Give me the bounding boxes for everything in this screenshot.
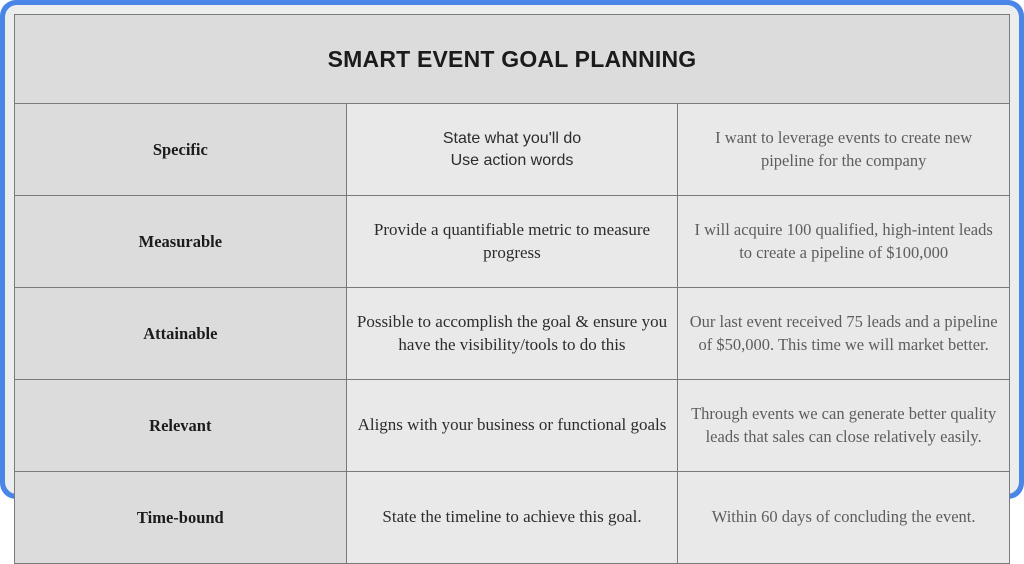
- row-description-relevant: Aligns with your business or functional …: [346, 380, 678, 472]
- card-inner-surface: SMART EVENT GOAL PLANNING Specific State…: [5, 5, 1019, 494]
- table-row: Attainable Possible to accomplish the go…: [15, 288, 1010, 380]
- row-description-attainable: Possible to accomplish the goal & ensure…: [346, 288, 678, 380]
- row-example-attainable: Our last event received 75 leads and a p…: [678, 288, 1010, 380]
- table-header-row: SMART EVENT GOAL PLANNING: [15, 15, 1010, 104]
- row-label-attainable: Attainable: [15, 288, 347, 380]
- row-example-measurable: I will acquire 100 qualified, high-inten…: [678, 196, 1010, 288]
- row-label-specific: Specific: [15, 104, 347, 196]
- blue-card-frame: SMART EVENT GOAL PLANNING Specific State…: [0, 0, 1024, 499]
- description-line-1: State what you'll do: [443, 130, 581, 147]
- row-label-measurable: Measurable: [15, 196, 347, 288]
- row-example-time-bound: Within 60 days of concluding the event.: [678, 472, 1010, 564]
- page-title: SMART EVENT GOAL PLANNING: [15, 15, 1010, 104]
- row-description-time-bound: State the timeline to achieve this goal.: [346, 472, 678, 564]
- description-line-2: Use action words: [451, 152, 574, 169]
- table-row: Specific State what you'll do Use action…: [15, 104, 1010, 196]
- row-example-relevant: Through events we can generate better qu…: [678, 380, 1010, 472]
- row-description-measurable: Provide a quantifiable metric to measure…: [346, 196, 678, 288]
- row-label-relevant: Relevant: [15, 380, 347, 472]
- table-row: Time-bound State the timeline to achieve…: [15, 472, 1010, 564]
- table-row: Measurable Provide a quantifiable metric…: [15, 196, 1010, 288]
- row-label-time-bound: Time-bound: [15, 472, 347, 564]
- table-row: Relevant Aligns with your business or fu…: [15, 380, 1010, 472]
- smart-goal-table: SMART EVENT GOAL PLANNING Specific State…: [14, 14, 1010, 564]
- row-example-specific: I want to leverage events to create new …: [678, 104, 1010, 196]
- row-description-specific: State what you'll do Use action words: [346, 104, 678, 196]
